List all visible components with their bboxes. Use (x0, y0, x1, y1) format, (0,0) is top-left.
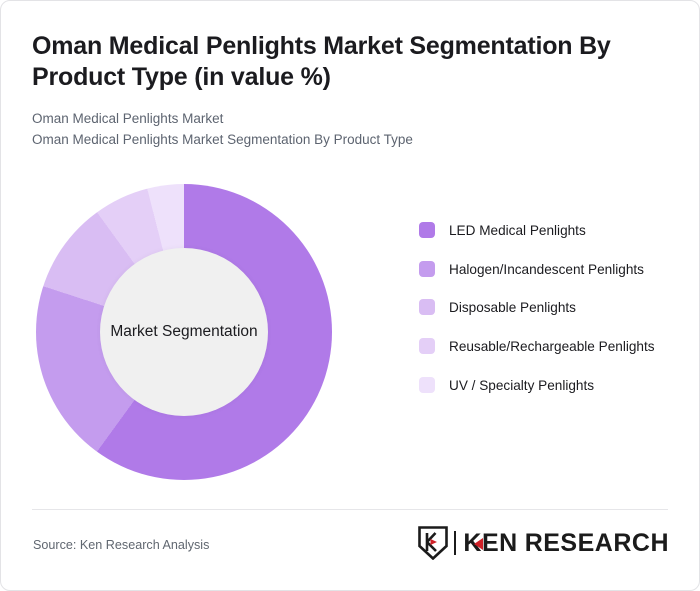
chart-area: Market Segmentation LED Medical Penlight… (1, 171, 700, 501)
legend-label: LED Medical Penlights (449, 221, 586, 241)
logo-separator (454, 531, 456, 555)
legend-item[interactable]: Reusable/Rechargeable Penlights (419, 337, 669, 357)
legend-swatch (419, 222, 435, 238)
logo-k-letter: K (463, 531, 482, 556)
legend-item[interactable]: Disposable Penlights (419, 298, 669, 318)
legend-item[interactable]: Halogen/Incandescent Penlights (419, 260, 669, 280)
legend-swatch (419, 377, 435, 393)
subtitle-group: Oman Medical Penlights Market Oman Medic… (32, 109, 669, 151)
page-title: Oman Medical Penlights Market Segmentati… (32, 31, 669, 93)
ken-research-logo: K EN RESEARCH (418, 525, 669, 561)
logo-wordmark: K EN RESEARCH (463, 531, 669, 556)
subtitle-segmentation: Oman Medical Penlights Market Segmentati… (32, 130, 669, 151)
legend-label: Disposable Penlights (449, 298, 576, 318)
legend-item[interactable]: UV / Specialty Penlights (419, 376, 669, 396)
subtitle-market: Oman Medical Penlights Market (32, 109, 669, 130)
legend-label: Reusable/Rechargeable Penlights (449, 337, 655, 357)
source-note: Source: Ken Research Analysis (33, 538, 209, 552)
red-triangle-icon (474, 538, 483, 550)
donut-chart: Market Segmentation (36, 184, 332, 480)
logo-en-glyph: EN (482, 531, 518, 556)
chart-card: Oman Medical Penlights Market Segmentati… (0, 0, 700, 591)
footer-divider (32, 509, 668, 510)
chart-legend: LED Medical PenlightsHalogen/Incandescen… (419, 221, 669, 396)
legend-label: Halogen/Incandescent Penlights (449, 260, 644, 280)
legend-label: UV / Specialty Penlights (449, 376, 594, 396)
donut-center: Market Segmentation (100, 248, 268, 416)
legend-swatch (419, 299, 435, 315)
donut-center-label: Market Segmentation (102, 323, 265, 342)
logo-research-glyph: RESEARCH (525, 531, 669, 556)
legend-swatch (419, 261, 435, 277)
legend-item[interactable]: LED Medical Penlights (419, 221, 669, 241)
shield-logo-icon (418, 526, 448, 560)
legend-swatch (419, 338, 435, 354)
chart-header: Oman Medical Penlights Market Segmentati… (32, 31, 669, 151)
